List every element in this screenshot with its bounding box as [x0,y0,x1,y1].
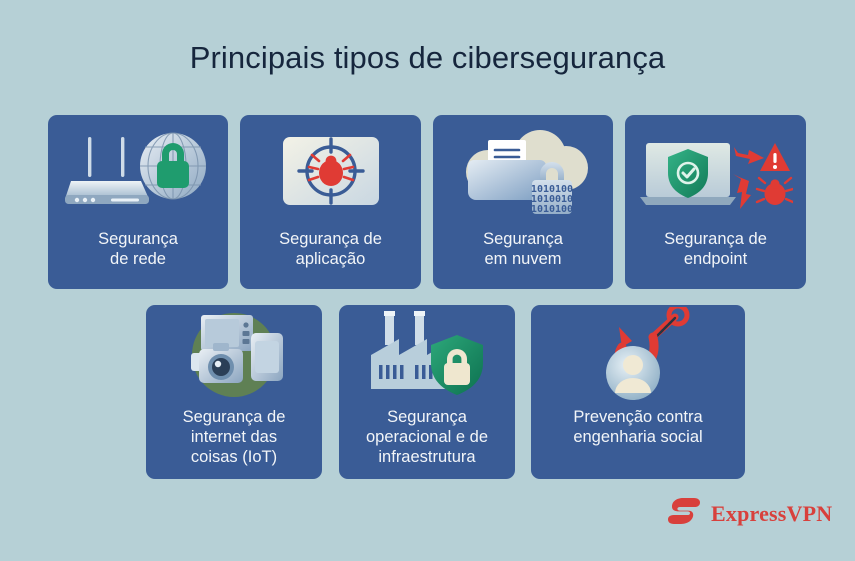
cloud-binary-line-3: 1010100 [531,204,573,215]
laptop-shield-threats-icon [625,115,806,227]
card-iot-security-label: Segurança de internet das coisas (IoT) [146,407,322,467]
card-network-security-label: Segurança de rede [48,229,228,269]
expressvpn-logo: ExpressVPN [668,496,832,531]
iot-devices-icon [146,305,322,405]
expressvpn-wordmark: ExpressVPN [711,501,832,527]
card-social-engineering-prevention-label: Prevenção contra engenharia social [531,407,745,447]
card-operational-security-label: Segurança operacional e de infraestrutur… [339,407,515,467]
card-cloud-security-label: Segurança em nuvem [433,229,613,269]
card-social-engineering-prevention: Prevenção contra engenharia social [531,305,745,479]
page-title: Principais tipos de cibersegurança [0,40,855,76]
card-operational-security: Segurança operacional e de infraestrutur… [339,305,515,479]
factory-shield-lock-icon [339,305,515,405]
infographic-root: Principais tipos de cibersegurança [0,0,855,561]
card-cloud-security: 1010100 1010010 1010100 Segurança em nuv… [433,115,613,289]
screen-crosshair-bug-icon [240,115,421,227]
expressvpn-e-mark-icon [668,496,702,531]
card-endpoint-security: Segurança de endpoint [625,115,806,289]
card-endpoint-security-label: Segurança de endpoint [625,229,806,269]
phishing-hook-user-icon [531,305,745,405]
card-iot-security: Segurança de internet das coisas (IoT) [146,305,322,479]
card-application-security: Segurança de aplicação [240,115,421,289]
card-network-security: Segurança de rede [48,115,228,289]
card-application-security-label: Segurança de aplicação [240,229,421,269]
cloud-folder-binary-lock-icon: 1010100 1010010 1010100 [433,115,613,227]
router-globe-lock-icon [48,115,228,227]
